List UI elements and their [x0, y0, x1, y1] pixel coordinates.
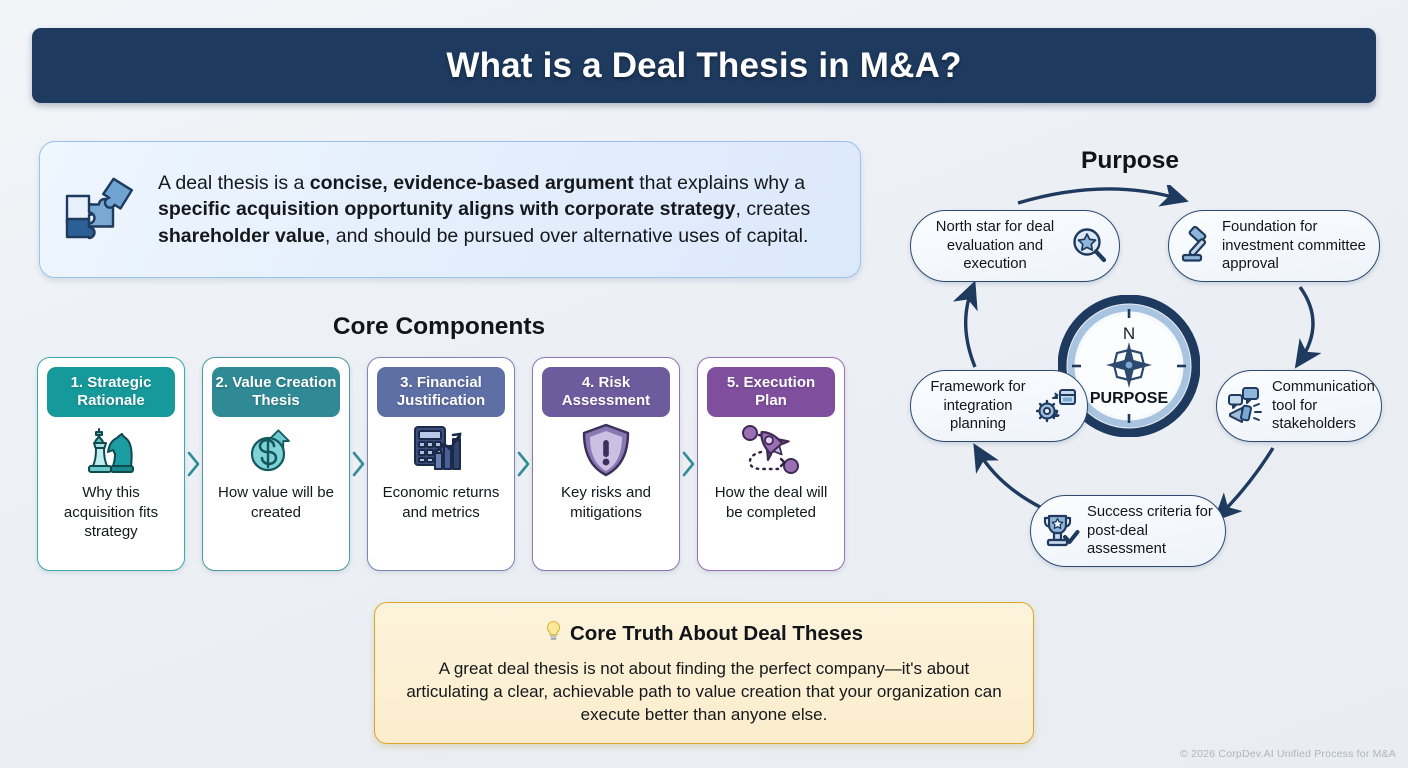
component-card[interactable]: 3. Financial Justification Economic retu…	[367, 357, 515, 571]
definition-plain: , and should be pursued over alternative…	[325, 225, 808, 247]
purpose-pill-framework[interactable]: Framework for integration planning	[910, 370, 1088, 442]
purpose-pill-label: North star for deal evaluation and execu…	[920, 218, 1070, 274]
core-truth-title-row: Core Truth About Deal Theses	[545, 620, 863, 648]
purpose-pill-communication[interactable]: Communication tool for stakeholders	[1216, 370, 1382, 442]
component-card[interactable]: 5. Execution Plan How the deal will be c…	[697, 357, 845, 571]
definition-emphasis: concise, evidence-based argument	[310, 172, 634, 194]
purpose-pill-label: Framework for integration planning	[920, 378, 1036, 434]
calculator-chart-icon	[410, 417, 472, 483]
lightbulb-icon	[545, 620, 562, 648]
component-card[interactable]: 2. Value Creation Thesis How value will …	[202, 357, 350, 571]
purpose-pill-success-criteria[interactable]: Success criteria for post-deal assessmen…	[1030, 495, 1226, 567]
gears-calendar-icon	[1036, 386, 1078, 426]
purpose-pill-label: Foundation for investment committee appr…	[1218, 218, 1370, 274]
definition-emphasis: specific acquisition opportunity aligns …	[158, 198, 736, 220]
footer-copyright: © 2026 CorpDev.AI Unified Process for M&…	[1180, 748, 1396, 760]
chess-pieces-icon	[81, 417, 141, 483]
definition-emphasis: shareholder value	[158, 225, 325, 247]
core-truth-callout: Core Truth About Deal Theses A great dea…	[374, 602, 1034, 744]
definition-plain: , creates	[736, 198, 811, 220]
purpose-diagram: N PURPOSE North star for deal evaluation…	[880, 185, 1400, 580]
definition-plain: that explains why a	[634, 172, 805, 194]
infographic-root: What is a Deal Thesis in M&A? A deal the…	[0, 0, 1408, 768]
definition-box: A deal thesis is a concise, evidence-bas…	[39, 141, 861, 278]
core-truth-title: Core Truth About Deal Theses	[570, 622, 863, 646]
compass-center-label: PURPOSE	[1090, 390, 1169, 407]
purpose-pill-label: Success criteria for post-deal assessmen…	[1082, 503, 1216, 559]
page-title: What is a Deal Thesis in M&A?	[446, 46, 961, 86]
magnifier-star-icon	[1070, 226, 1110, 266]
chevron-right-icon	[515, 357, 532, 571]
puzzle-pieces-icon	[40, 172, 158, 248]
megaphone-chat-icon	[1226, 386, 1268, 426]
chevron-right-icon	[680, 357, 697, 571]
purpose-pill-label: Communication tool for stakeholders	[1268, 378, 1375, 434]
purpose-heading: Purpose	[930, 147, 1330, 175]
purpose-pill-foundation[interactable]: Foundation for investment committee appr…	[1168, 210, 1380, 282]
rocket-path-icon	[739, 417, 803, 483]
core-truth-body: A great deal thesis is not about finding…	[400, 657, 1008, 726]
component-card-description: Economic returns and metrics	[375, 483, 507, 522]
definition-text: A deal thesis is a concise, evidence-bas…	[158, 170, 860, 250]
title-bar: What is a Deal Thesis in M&A?	[32, 28, 1376, 103]
component-card-header: 3. Financial Justification	[377, 367, 505, 417]
component-card-header: 5. Execution Plan	[707, 367, 835, 417]
core-components-heading: Core Components	[36, 313, 842, 341]
component-card-header: 1. Strategic Rationale	[47, 367, 175, 417]
component-card-header: 4. Risk Assessment	[542, 367, 670, 417]
purpose-pill-north-star[interactable]: North star for deal evaluation and execu…	[910, 210, 1120, 282]
definition-plain: A deal thesis is a	[158, 172, 310, 194]
trophy-check-icon	[1040, 511, 1082, 551]
component-card-description: How value will be created	[210, 483, 342, 522]
compass-north-label: N	[1123, 324, 1135, 343]
core-components-cards: 1. Strategic Rationale Why this acquisit…	[37, 357, 847, 571]
component-card[interactable]: 1. Strategic Rationale Why this acquisit…	[37, 357, 185, 571]
component-card-description: How the deal will be completed	[705, 483, 837, 522]
dollar-growth-icon	[245, 417, 307, 483]
chevron-right-icon	[350, 357, 367, 571]
shield-alert-icon	[578, 417, 634, 483]
component-card-description: Why this acquisition fits strategy	[45, 483, 177, 542]
chevron-right-icon	[185, 357, 202, 571]
component-card[interactable]: 4. Risk Assessment Key risks and mitigat…	[532, 357, 680, 571]
component-card-header: 2. Value Creation Thesis	[212, 367, 340, 417]
gavel-icon	[1178, 226, 1218, 266]
component-card-description: Key risks and mitigations	[540, 483, 672, 522]
